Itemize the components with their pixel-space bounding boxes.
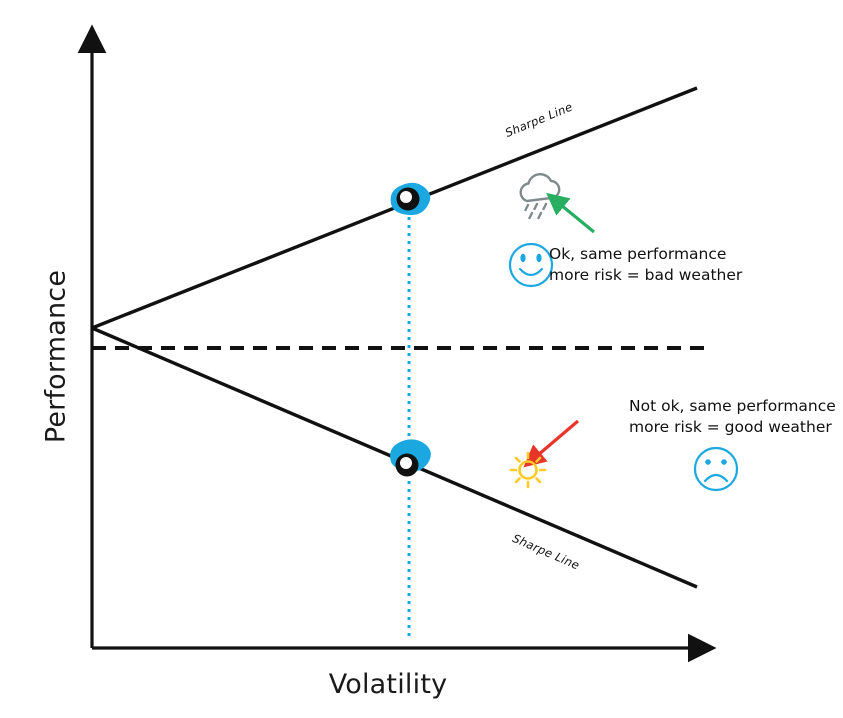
smiley-happy-icon [510, 244, 552, 286]
annotation-top: Ok, same performance more risk = bad wea… [549, 244, 742, 286]
x-axis-label: Volatility [268, 669, 508, 700]
upper-portfolio-point [391, 183, 431, 215]
marker-core-lower [400, 457, 412, 469]
red-arrow-icon [538, 421, 578, 455]
annotation-bottom-line1: Not ok, same performance [629, 396, 836, 417]
annotation-top-line2: more risk = bad weather [549, 265, 742, 286]
sun-icon [511, 453, 545, 487]
green-arrow-icon [561, 205, 594, 232]
diagram-svg [0, 0, 843, 718]
annotation-bottom-line2: more risk = good weather [629, 417, 836, 438]
rain-cloud-icon [521, 174, 559, 218]
y-axis-label: Performance [41, 237, 72, 477]
diagram-canvas: Performance Volatility Sharpe Line Sharp… [0, 0, 843, 718]
annotation-bottom: Not ok, same performance more risk = goo… [629, 396, 836, 438]
smiley-sad-icon [695, 448, 737, 490]
annotation-top-line1: Ok, same performance [549, 244, 742, 265]
sharpe-lines-group [92, 88, 697, 587]
marker-core-upper [400, 191, 412, 203]
